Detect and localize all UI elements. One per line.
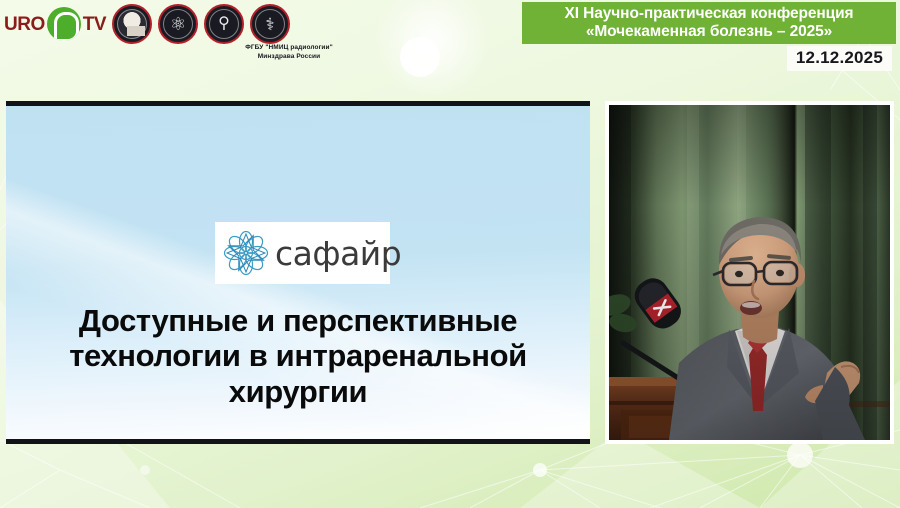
webinar-page: URO TV ⚛ ⚲ ⚕ ФГБУ "НМИЦ радиологии" Минз… xyxy=(0,0,900,508)
sapphire-wordmark: сафайр xyxy=(275,237,401,270)
sapphire-rosette-icon xyxy=(221,228,271,278)
presentation-slide[interactable]: сафайр Доступные и перспективные техноло… xyxy=(6,101,590,444)
ministry-caption-line2: Минздрава России xyxy=(230,53,348,62)
date-badge: 12.12.2025 xyxy=(787,46,892,71)
video-panel[interactable] xyxy=(605,101,894,444)
conference-title-line1: XI Научно-практическая конференция xyxy=(565,5,854,23)
atom-emblem: ⚛ xyxy=(158,4,198,44)
page-header: URO TV ⚛ ⚲ ⚕ ФГБУ "НМИЦ радиологии" Минз… xyxy=(0,0,900,95)
conference-title-line2: «Мочекаменная болезнь – 2025» xyxy=(586,23,832,41)
institute-emblem xyxy=(112,4,152,44)
sapphire-logo: сафайр xyxy=(215,222,390,284)
atom-icon: ⚛ xyxy=(163,9,193,39)
ministry-caption-line1: ФГБУ "НМИЦ радиологии" xyxy=(230,44,348,53)
logo-row: URO TV ⚛ ⚲ ⚕ xyxy=(4,4,290,44)
urotv-prefix: URO xyxy=(4,15,45,34)
slide-title-line2: технологии в интраренальной xyxy=(28,338,568,373)
urotv-leaf-icon xyxy=(47,7,81,41)
ministry-caption: ФГБУ "НМИЦ радиологии" Минздрава России xyxy=(230,44,348,62)
kidneys-icon: ⚲ xyxy=(209,9,239,39)
medical-rod-emblem: ⚕ xyxy=(250,4,290,44)
conference-banner: XI Научно-практическая конференция «Моче… xyxy=(522,2,896,44)
kidneys-emblem: ⚲ xyxy=(204,4,244,44)
urotv-logo[interactable]: URO TV xyxy=(4,7,106,41)
slide-title: Доступные и перспективные технологии в и… xyxy=(28,303,568,409)
slide-title-line3: хирургии xyxy=(28,374,568,409)
slide-title-line1: Доступные и перспективные xyxy=(28,303,568,338)
urotv-suffix: TV xyxy=(83,15,106,34)
speaker-video-feed[interactable] xyxy=(609,105,890,440)
medical-rod-icon: ⚕ xyxy=(255,9,285,39)
